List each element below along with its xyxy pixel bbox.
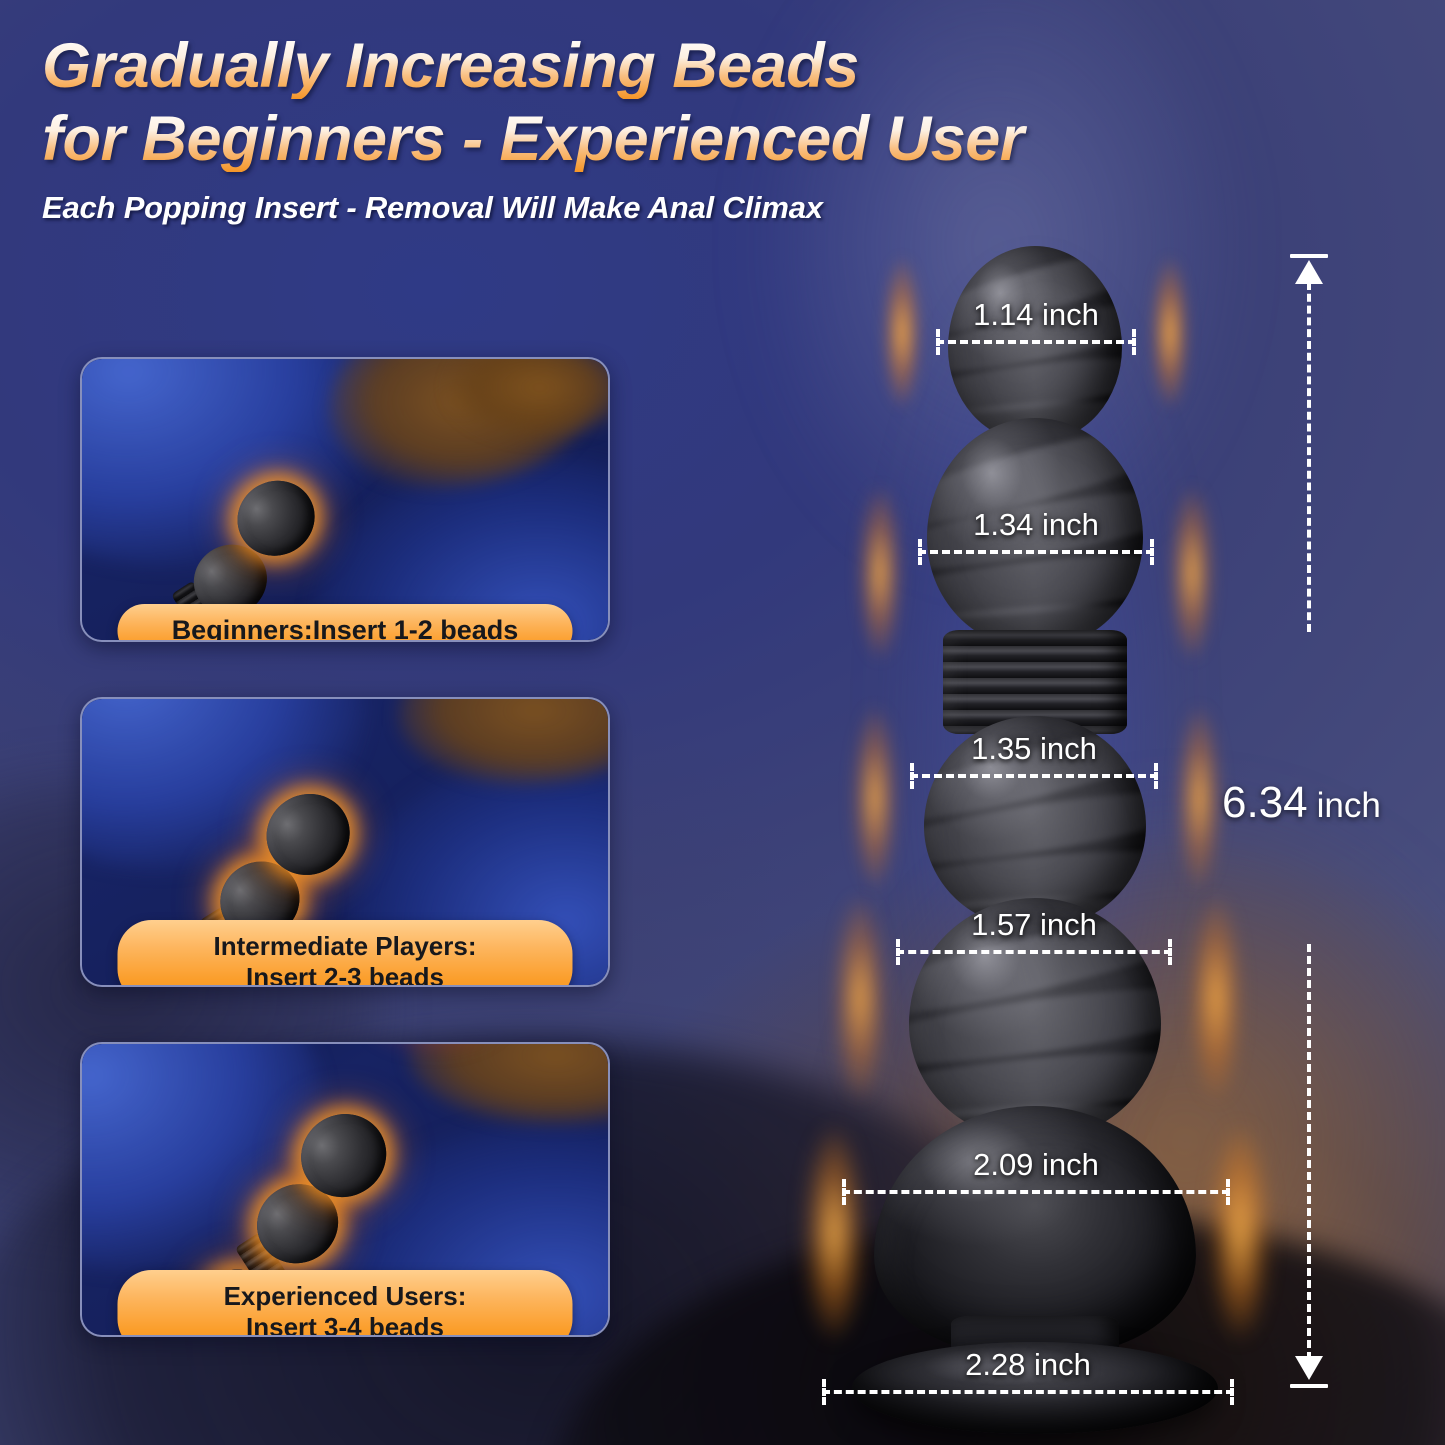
height-cap-top bbox=[1290, 254, 1328, 258]
height-line-bottom bbox=[1307, 944, 1311, 1360]
glow-bead-2-right bbox=[1172, 488, 1212, 658]
height-arrow-down-icon bbox=[1295, 1356, 1323, 1380]
usage-card-intermediate[interactable]: Intermediate Players: Insert 2-3 beads bbox=[80, 697, 610, 987]
product-height-label: 6.34inch bbox=[1222, 778, 1381, 828]
usage-card-list: Beginners:Insert 1-2 beads Intermediate … bbox=[80, 357, 610, 1337]
dimension-2-28: 2.28 inch bbox=[822, 1334, 1234, 1394]
dimension-2-28-tick-right bbox=[1230, 1379, 1234, 1405]
height-line-top bbox=[1307, 282, 1311, 632]
glow-bead-1 bbox=[884, 258, 920, 408]
glow-bead-4-right bbox=[1192, 898, 1240, 1098]
dimension-1-34-label: 1.34 inch bbox=[973, 507, 1099, 543]
usage-card-experienced[interactable]: Experienced Users: Insert 3-4 beads bbox=[80, 1042, 610, 1337]
dimension-1-57-label: 1.57 inch bbox=[971, 907, 1097, 943]
dimension-1-57-tick-left bbox=[896, 939, 900, 965]
usage-card-beginner[interactable]: Beginners:Insert 1-2 beads bbox=[80, 357, 610, 642]
dimension-2-09-tick-left bbox=[842, 1179, 846, 1205]
glow-bead-3 bbox=[854, 708, 896, 888]
glow-bead-3-right bbox=[1178, 708, 1220, 888]
dimension-1-34-tick-right bbox=[1150, 539, 1154, 565]
dimension-1-14-tick-left bbox=[936, 329, 940, 355]
dimension-1-14-label: 1.14 inch bbox=[973, 297, 1099, 333]
page-title-line-1: Gradually Increasing Beads bbox=[42, 34, 1292, 99]
glow-bead-2 bbox=[860, 488, 900, 658]
product-height-value: 6.34 bbox=[1222, 778, 1308, 827]
dimension-1-35-label: 1.35 inch bbox=[971, 731, 1097, 767]
product-height-unit: inch bbox=[1317, 786, 1381, 825]
dimension-2-28-tick-left bbox=[822, 1379, 826, 1405]
dimension-2-09: 2.09 inch bbox=[842, 1134, 1230, 1194]
product-image-beaded-plug: 1.14 inch 1.34 inch 1.35 inch 1.57 inch … bbox=[800, 238, 1270, 1408]
height-cap-bottom bbox=[1290, 1384, 1328, 1388]
height-arrow-up-icon bbox=[1295, 260, 1323, 284]
dimension-height-bottom-segment bbox=[1288, 944, 1330, 1388]
dimension-2-09-tick-right bbox=[1226, 1179, 1230, 1205]
dimension-1-14: 1.14 inch bbox=[936, 284, 1136, 344]
header-block: Gradually Increasing Beads for Beginners… bbox=[42, 34, 1292, 226]
usage-badge-intermediate: Intermediate Players: Insert 2-3 beads bbox=[118, 920, 573, 987]
dimension-1-34-tick-left bbox=[918, 539, 922, 565]
dimension-1-14-tick-right bbox=[1132, 329, 1136, 355]
dimension-1-35-tick-left bbox=[910, 763, 914, 789]
glow-bead-1-right bbox=[1152, 258, 1188, 408]
dimension-2-28-label: 2.28 inch bbox=[965, 1347, 1091, 1383]
dimension-1-35-tick-right bbox=[1154, 763, 1158, 789]
glow-bead-4 bbox=[836, 898, 884, 1098]
usage-badge-beginner: Beginners:Insert 1-2 beads bbox=[118, 604, 573, 642]
dimension-2-09-label: 2.09 inch bbox=[973, 1147, 1099, 1183]
dimension-2-09-line bbox=[842, 1190, 1230, 1194]
dimension-1-34-line bbox=[918, 550, 1154, 554]
dimension-1-35-line bbox=[910, 774, 1158, 778]
product-bead-1-tip bbox=[948, 246, 1122, 442]
dimension-1-34: 1.34 inch bbox=[918, 494, 1154, 554]
dimension-1-14-line bbox=[936, 340, 1136, 344]
dimension-height-top-segment bbox=[1288, 254, 1330, 632]
page-title-line-2: for Beginners - Experienced User bbox=[42, 107, 1292, 172]
dimension-1-57-tick-right bbox=[1168, 939, 1172, 965]
usage-badge-experienced: Experienced Users: Insert 3-4 beads bbox=[118, 1270, 573, 1337]
dimension-1-57: 1.57 inch bbox=[896, 894, 1172, 954]
dimension-1-35: 1.35 inch bbox=[910, 718, 1158, 778]
dimension-1-57-line bbox=[896, 950, 1172, 954]
page-subtitle: Each Popping Insert - Removal Will Make … bbox=[42, 190, 1292, 226]
product-infographic: Gradually Increasing Beads for Beginners… bbox=[0, 0, 1445, 1445]
dimension-2-28-line bbox=[822, 1390, 1234, 1394]
bead-1-swirl bbox=[948, 246, 1122, 442]
